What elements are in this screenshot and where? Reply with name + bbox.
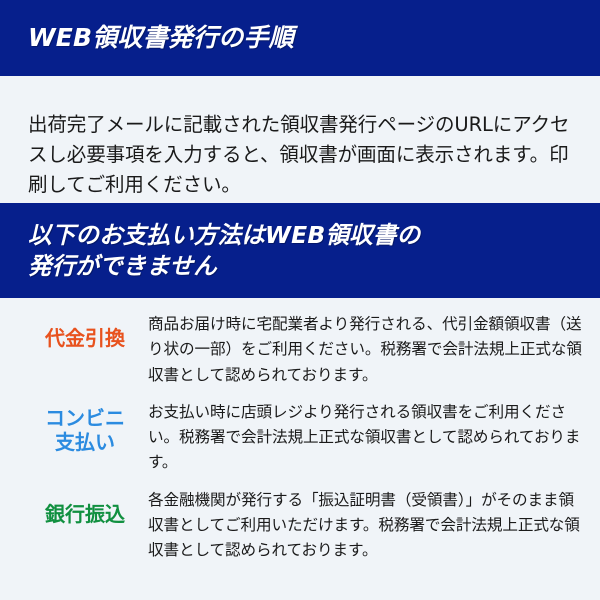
page-header-banner: WEB領収書発行の手順: [0, 0, 600, 76]
payment-method-list: 代金引換 商品お届け時に宅配業者より発行される、代引金額領収書（送り状の一部）を…: [0, 298, 600, 563]
payment-method-label-cash-on-delivery: 代金引換: [22, 310, 148, 350]
receipt-instructions-page: WEB領収書発行の手順 出荷完了メールに記載された領収書発行ページのURLにアク…: [0, 0, 600, 600]
payment-method-row-bank-transfer: 銀行振込 各金融機関が発行する「振込証明書（受領書）」がそのまま領収書としてご利…: [0, 486, 600, 564]
page-title: WEB領収書発行の手順: [28, 23, 572, 54]
notice-header-banner: 以下のお支払い方法はWEB領収書の 発行ができません: [0, 203, 600, 298]
intro-section: 出荷完了メールに記載された領収書発行ページのURLにアクセスし必要事項を入力する…: [0, 76, 600, 203]
notice-title: 以下のお支払い方法はWEB領収書の 発行ができません: [28, 220, 572, 280]
payment-method-description-cash-on-delivery: 商品お届け時に宅配業者より発行される、代引金額領収書（送り状の一部）をご利用くだ…: [148, 310, 590, 388]
payment-method-row-convenience-store: コンビニ 支払い お支払い時に店頭レジより発行される領収書をご利用ください。税務…: [0, 398, 600, 476]
payment-method-description-convenience-store: お支払い時に店頭レジより発行される領収書をご利用ください。税務署で会計法規上正式…: [148, 398, 590, 476]
payment-method-label-bank-transfer: 銀行振込: [22, 486, 148, 526]
payment-method-row-cash-on-delivery: 代金引換 商品お届け時に宅配業者より発行される、代引金額領収書（送り状の一部）を…: [0, 310, 600, 388]
payment-method-label-convenience-store: コンビニ 支払い: [22, 398, 148, 455]
payment-method-description-bank-transfer: 各金融機関が発行する「振込証明書（受領書）」がそのまま領収書としてご利用いただけ…: [148, 486, 590, 564]
intro-paragraph: 出荷完了メールに記載された領収書発行ページのURLにアクセスし必要事項を入力する…: [28, 110, 572, 201]
